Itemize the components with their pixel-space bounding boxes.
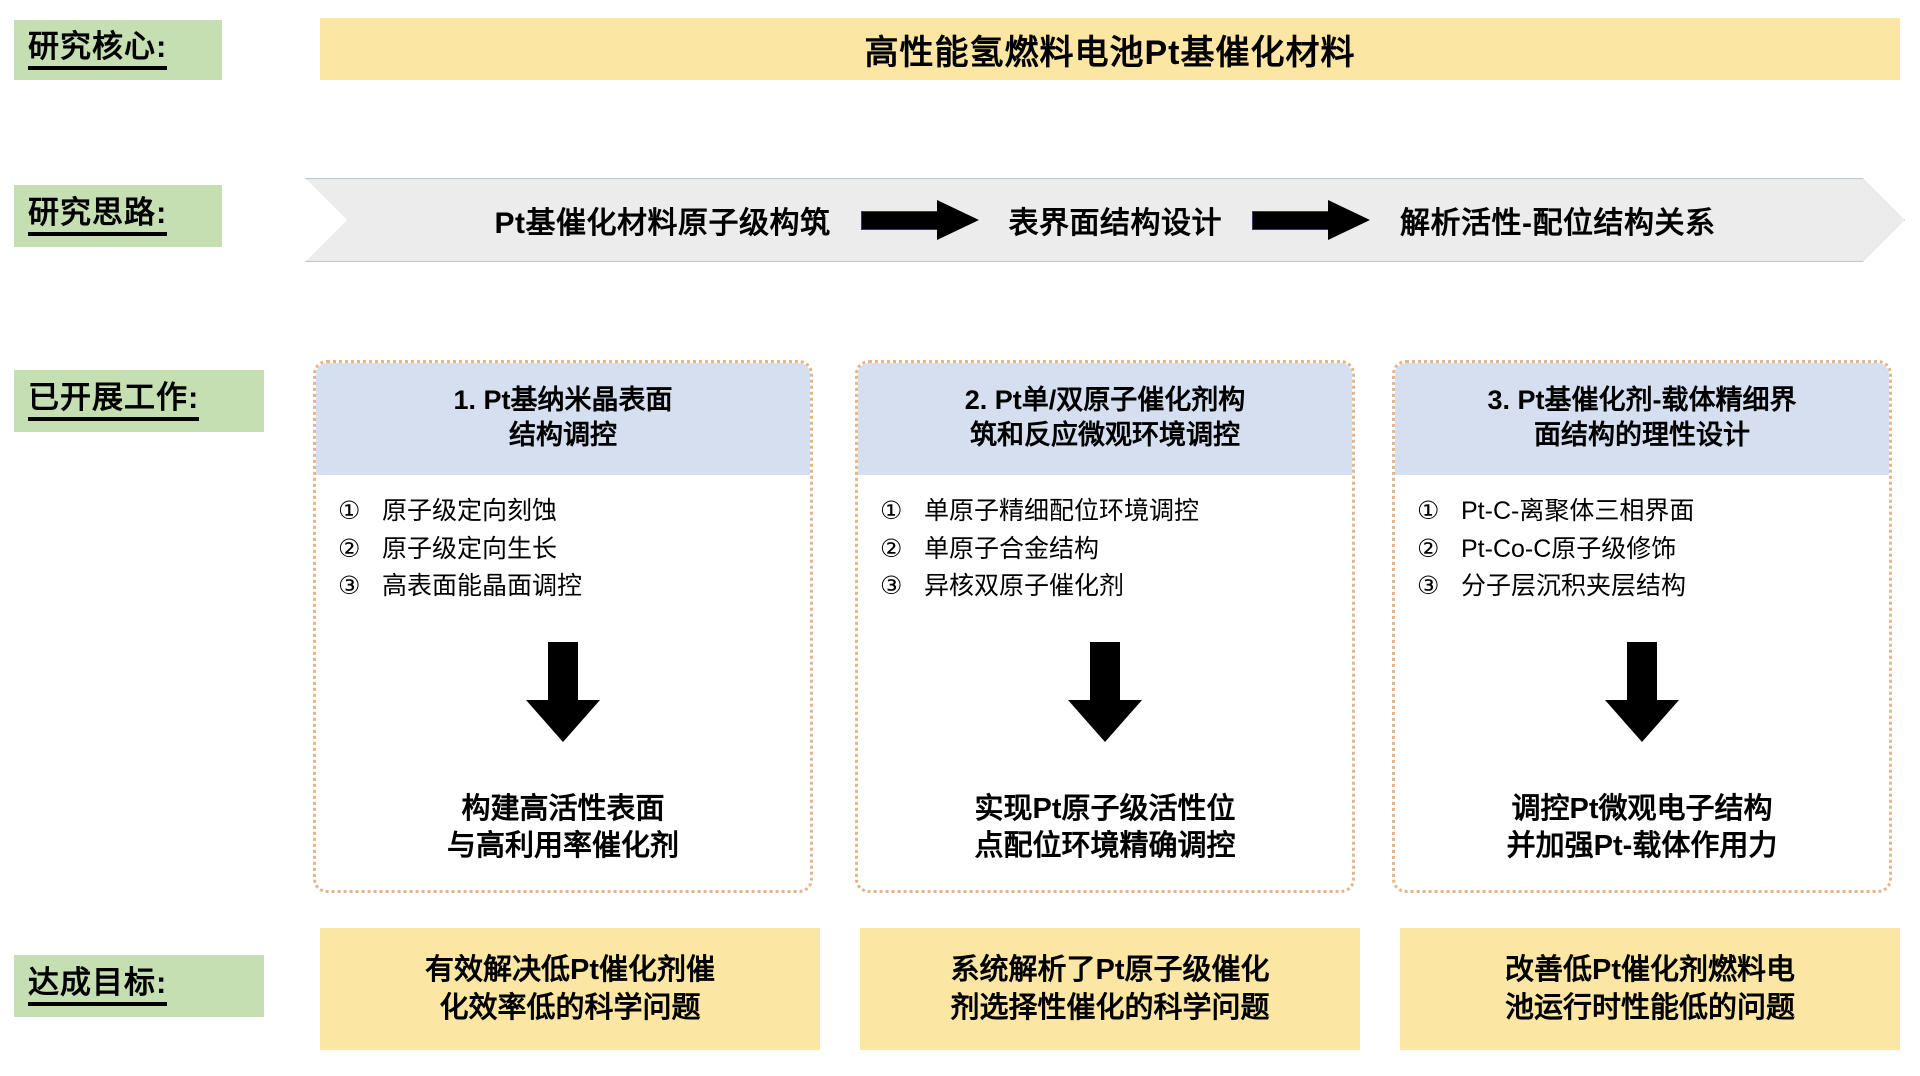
list-item: ② Pt-Co-C原子级修饰 — [1417, 531, 1889, 569]
list-item-label: 单原子精细配位环境调控 — [924, 493, 1199, 531]
work-box-3-conclusion-line2: 并加强Pt-载体作用力 — [1395, 828, 1889, 866]
list-item-number: ① — [338, 493, 382, 531]
list-item-label: Pt-C-离聚体三相界面 — [1461, 493, 1694, 531]
work-box-3: 3. Pt基催化剂-载体精细界 面结构的理性设计 ① Pt-C-离聚体三相界面 … — [1392, 360, 1892, 893]
list-item-label: 异核双原子催化剂 — [924, 568, 1124, 606]
goal-box-2-line2: 剂选择性催化的科学问题 — [950, 989, 1269, 1027]
list-item: ③ 高表面能晶面调控 — [338, 568, 810, 606]
list-item-number: ① — [1417, 493, 1461, 531]
goal-box-1-text: 有效解决低Pt催化剂催 化效率低的科学问题 — [419, 951, 721, 1028]
flow-step-1: Pt基催化材料原子级构筑 — [495, 198, 831, 242]
row-label-completed-work-text: 已开展工作: — [28, 381, 199, 421]
goal-box-3-line1: 改善低Pt催化剂燃料电 — [1505, 951, 1795, 989]
list-item: ② 原子级定向生长 — [338, 531, 810, 569]
list-item: ③ 异核双原子催化剂 — [880, 568, 1352, 606]
list-item: ② 单原子合金结构 — [880, 531, 1352, 569]
work-box-1-header: 1. Pt基纳米晶表面 结构调控 — [316, 363, 810, 475]
work-box-3-header-line1: 3. Pt基催化剂-载体精细界 — [1403, 383, 1881, 418]
work-box-3-conclusion: 调控Pt微观电子结构 并加强Pt-载体作用力 — [1395, 791, 1889, 866]
work-box-1-conclusion-line1: 构建高活性表面 — [316, 791, 810, 829]
list-item-label: 原子级定向生长 — [382, 531, 557, 569]
work-box-1-header-line1: 1. Pt基纳米晶表面 — [324, 383, 802, 418]
goal-box-2-line1: 系统解析了Pt原子级催化 — [950, 951, 1269, 989]
work-box-2: 2. Pt单/双原子催化剂构 筑和反应微观环境调控 ① 单原子精细配位环境调控 … — [855, 360, 1355, 893]
work-box-1-conclusion-line2: 与高利用率催化剂 — [316, 828, 810, 866]
work-box-2-conclusion-line2: 点配位环境精确调控 — [858, 828, 1352, 866]
goal-box-2-text: 系统解析了Pt原子级催化 剂选择性催化的科学问题 — [944, 951, 1275, 1028]
row-label-research-core-text: 研究核心: — [28, 30, 167, 70]
goal-box-3-text: 改善低Pt催化剂燃料电 池运行时性能低的问题 — [1499, 951, 1801, 1028]
row-label-achieved-goals-text: 达成目标: — [28, 966, 167, 1006]
list-item-number: ② — [338, 531, 382, 569]
row-label-research-core: 研究核心: — [14, 20, 222, 80]
work-box-2-header: 2. Pt单/双原子催化剂构 筑和反应微观环境调控 — [858, 363, 1352, 475]
list-item-label: Pt-Co-C原子级修饰 — [1461, 531, 1676, 569]
list-item-label: 分子层沉积夹层结构 — [1461, 568, 1686, 606]
goal-box-1-line2: 化效率低的科学问题 — [425, 989, 715, 1027]
row-label-achieved-goals: 达成目标: — [14, 955, 264, 1017]
right-arrow-icon-1 — [861, 200, 979, 240]
work-box-2-conclusion-line1: 实现Pt原子级活性位 — [858, 791, 1352, 829]
down-arrow-icon-3 — [1605, 642, 1679, 742]
down-arrow-icon-2 — [1068, 642, 1142, 742]
row-label-completed-work: 已开展工作: — [14, 370, 264, 432]
down-arrow-icon-1 — [526, 642, 600, 742]
goal-box-1-line1: 有效解决低Pt催化剂催 — [425, 951, 715, 989]
work-box-2-header-line1: 2. Pt单/双原子催化剂构 — [866, 383, 1344, 418]
goal-box-1: 有效解决低Pt催化剂催 化效率低的科学问题 — [320, 928, 820, 1050]
row-label-research-approach-text: 研究思路: — [28, 196, 167, 236]
list-item-label: 单原子合金结构 — [924, 531, 1099, 569]
list-item: ③ 分子层沉积夹层结构 — [1417, 568, 1889, 606]
list-item-label: 高表面能晶面调控 — [382, 568, 582, 606]
work-box-3-conclusion-line1: 调控Pt微观电子结构 — [1395, 791, 1889, 829]
list-item: ① 单原子精细配位环境调控 — [880, 493, 1352, 531]
list-item-number: ② — [880, 531, 924, 569]
right-arrow-icon-2 — [1252, 200, 1370, 240]
work-box-1-list: ① 原子级定向刻蚀 ② 原子级定向生长 ③ 高表面能晶面调控 — [316, 475, 810, 606]
work-box-1-conclusion: 构建高活性表面 与高利用率催化剂 — [316, 791, 810, 866]
list-item-number: ③ — [338, 568, 382, 606]
list-item: ① Pt-C-离聚体三相界面 — [1417, 493, 1889, 531]
list-item-number: ③ — [1417, 568, 1461, 606]
flow-steps-container: Pt基催化材料原子级构筑 表界面结构设计 解析活性-配位结构关系 — [305, 178, 1905, 262]
work-box-3-header-line2: 面结构的理性设计 — [1403, 418, 1881, 453]
work-box-2-header-line2: 筑和反应微观环境调控 — [866, 418, 1344, 453]
list-item-number: ② — [1417, 531, 1461, 569]
list-item-number: ③ — [880, 568, 924, 606]
flow-step-2: 表界面结构设计 — [1009, 198, 1223, 242]
page-title: 高性能氢燃料电池Pt基催化材料 — [865, 25, 1356, 74]
work-box-2-list: ① 单原子精细配位环境调控 ② 单原子合金结构 ③ 异核双原子催化剂 — [858, 475, 1352, 606]
work-box-3-header: 3. Pt基催化剂-载体精细界 面结构的理性设计 — [1395, 363, 1889, 475]
research-approach-flow: Pt基催化材料原子级构筑 表界面结构设计 解析活性-配位结构关系 — [305, 178, 1905, 262]
title-banner: 高性能氢燃料电池Pt基催化材料 — [320, 18, 1900, 80]
list-item: ① 原子级定向刻蚀 — [338, 493, 810, 531]
work-box-1-header-line2: 结构调控 — [324, 418, 802, 453]
list-item-number: ① — [880, 493, 924, 531]
work-box-1: 1. Pt基纳米晶表面 结构调控 ① 原子级定向刻蚀 ② 原子级定向生长 ③ 高… — [313, 360, 813, 893]
goal-box-3: 改善低Pt催化剂燃料电 池运行时性能低的问题 — [1400, 928, 1900, 1050]
work-box-3-list: ① Pt-C-离聚体三相界面 ② Pt-Co-C原子级修饰 ③ 分子层沉积夹层结… — [1395, 475, 1889, 606]
row-label-research-approach: 研究思路: — [14, 185, 222, 247]
goal-box-3-line2: 池运行时性能低的问题 — [1505, 989, 1795, 1027]
slide-canvas: 研究核心: 高性能氢燃料电池Pt基催化材料 研究思路: Pt基催化材料原子级构筑… — [0, 0, 1920, 1076]
goal-box-2: 系统解析了Pt原子级催化 剂选择性催化的科学问题 — [860, 928, 1360, 1050]
flow-step-3: 解析活性-配位结构关系 — [1400, 198, 1716, 242]
work-box-2-conclusion: 实现Pt原子级活性位 点配位环境精确调控 — [858, 791, 1352, 866]
list-item-label: 原子级定向刻蚀 — [382, 493, 557, 531]
